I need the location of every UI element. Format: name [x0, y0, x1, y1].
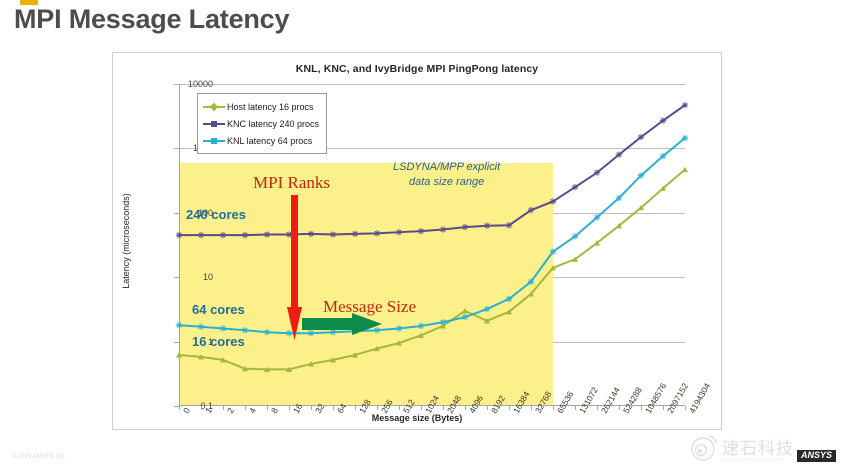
chart-container: KNL, KNC, and IvyBridge MPI PingPong lat… — [112, 52, 722, 430]
watermark-brand-sub: FASTONE TECHNOLOGY — [722, 457, 794, 462]
series-marker — [330, 231, 336, 237]
series-marker — [176, 232, 182, 238]
annotation-lsdyna-line2: data size range — [393, 175, 500, 190]
series-marker — [638, 134, 644, 140]
red-down-arrow-icon — [287, 195, 302, 340]
legend-item-knc[interactable]: KNC latency 240 procs — [203, 115, 319, 132]
series-marker — [484, 223, 490, 229]
series-marker — [484, 306, 490, 312]
series-marker — [220, 232, 226, 238]
legend-item-knl[interactable]: KNL latency 64 procs — [203, 132, 319, 149]
x-axis-ticks: 0124816326412825651210242048409681921638… — [179, 406, 685, 466]
series-marker — [242, 327, 248, 333]
y-tick-mark — [174, 406, 179, 407]
annotation-mpi-ranks: MPI Ranks — [253, 173, 330, 193]
series-marker — [528, 207, 534, 213]
series-marker — [682, 167, 688, 172]
weibo-logo-icon — [689, 432, 719, 462]
legend-label-host: Host latency 16 procs — [227, 102, 314, 112]
legend-swatch-knc-icon — [203, 119, 225, 129]
series-marker — [506, 296, 512, 302]
series-marker — [176, 322, 182, 328]
series-marker — [396, 229, 402, 235]
series-marker — [242, 232, 248, 238]
series-marker — [352, 231, 358, 237]
legend-swatch-host-icon — [203, 102, 225, 112]
series-marker — [616, 195, 622, 201]
series-marker — [264, 231, 270, 237]
ansys-logo: ANSYS — [797, 450, 836, 462]
series-marker — [264, 329, 270, 335]
series-marker — [374, 230, 380, 236]
slide-canvas: MPI Message Latency KNL, KNC, and IvyBri… — [0, 0, 844, 468]
series-marker — [220, 325, 226, 331]
series-marker — [660, 153, 666, 159]
x-tick-label: 8 — [269, 406, 280, 415]
series-marker — [594, 169, 600, 175]
series-marker — [418, 228, 424, 234]
annotation-240-cores: 240 cores — [186, 207, 246, 222]
legend-swatch-knl-icon — [203, 136, 225, 146]
series-marker — [396, 325, 402, 331]
series-marker — [506, 222, 512, 228]
annotation-64-cores: 64 cores — [192, 302, 245, 317]
x-tick-label: 1 — [203, 406, 214, 415]
series-marker — [418, 323, 424, 329]
legend-label-knl: KNL latency 64 procs — [227, 136, 312, 146]
series-marker — [594, 214, 600, 220]
copyright-notice: © 2019 ANSYS, Inc. — [12, 454, 66, 460]
series-marker — [660, 117, 666, 123]
watermark-brand-cn: 速石科技 — [722, 440, 794, 457]
series-marker — [616, 151, 622, 157]
annotation-lsdyna-line1: LSDYNA/MPP explicit — [393, 160, 500, 175]
series-marker — [440, 226, 446, 232]
watermark-text-block: 速石科技 FASTONE TECHNOLOGY — [722, 440, 794, 462]
series-marker — [550, 248, 556, 254]
series-line — [179, 170, 685, 370]
series-marker — [528, 279, 534, 285]
y-axis-title: Latency (microseconds) — [121, 193, 131, 289]
annotation-16-cores: 16 cores — [192, 334, 245, 349]
x-tick-label: 2 — [225, 406, 236, 415]
series-marker — [198, 232, 204, 238]
series-marker — [572, 184, 578, 190]
series-marker — [682, 135, 688, 141]
series-marker — [462, 314, 468, 320]
legend-label-knc: KNC latency 240 procs — [227, 119, 319, 129]
series-marker — [308, 231, 314, 237]
series-marker — [462, 224, 468, 230]
series-marker — [572, 233, 578, 239]
x-tick-label: 4 — [247, 406, 258, 415]
series-marker — [198, 324, 204, 330]
legend-item-host[interactable]: Host latency 16 procs — [203, 98, 319, 115]
chart-title: KNL, KNC, and IvyBridge MPI PingPong lat… — [113, 63, 721, 75]
x-tick-label: 0 — [181, 406, 192, 415]
series-marker — [550, 198, 556, 204]
page-title: MPI Message Latency — [14, 4, 289, 35]
series-marker — [638, 172, 644, 178]
green-right-arrow-icon — [302, 313, 382, 335]
chart-legend: Host latency 16 procs KNC latency 240 pr… — [197, 93, 327, 154]
x-tick-label: 4194304 — [687, 381, 712, 415]
series-marker — [440, 319, 446, 325]
series-marker — [682, 102, 688, 108]
watermark-group: 速石科技 FASTONE TECHNOLOGY ANSYS — [689, 432, 836, 462]
annotation-lsdyna-range: LSDYNA/MPP explicit data size range — [393, 160, 500, 190]
